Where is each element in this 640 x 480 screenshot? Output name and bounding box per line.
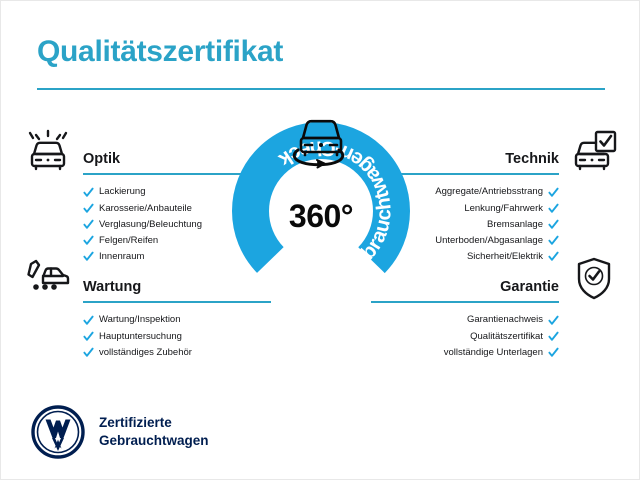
list-item: Qualitätszertifikat xyxy=(371,328,559,344)
section-title: Garantie xyxy=(500,279,559,295)
check-icon xyxy=(548,331,559,342)
list-item-label: Unterboden/Abgasanlage xyxy=(435,236,543,246)
section-title: Technik xyxy=(505,151,559,167)
check-icon xyxy=(548,219,559,230)
car-shine-icon xyxy=(23,129,73,173)
list-item-label: vollständiges Zubehör xyxy=(99,348,192,358)
checklist-garantie: Garantienachweis Qualitätszertifikat vol… xyxy=(371,305,621,361)
360-check-badge: Gebrauchtwagen-Check 360° xyxy=(224,114,418,308)
check-icon xyxy=(83,315,94,326)
shield-check-icon xyxy=(569,257,619,301)
vw-logo-line1: Zertifizierte xyxy=(99,414,209,432)
list-item: vollständiges Zubehör xyxy=(83,344,271,360)
list-item-label: Wartung/Inspektion xyxy=(99,315,181,325)
check-icon xyxy=(548,187,559,198)
title-divider xyxy=(37,88,605,90)
list-item-label: Aggregate/Antriebsstrang xyxy=(435,187,543,197)
list-item-label: Karosserie/Anbauteile xyxy=(99,204,192,214)
list-item-label: Hauptuntersuchung xyxy=(99,332,182,342)
quality-certificate-page: Qualitätszertifikat Optik xyxy=(0,0,640,480)
check-icon xyxy=(548,315,559,326)
list-item-label: vollständige Unterlagen xyxy=(444,348,543,358)
check-icon xyxy=(548,347,559,358)
check-icon xyxy=(548,235,559,246)
badge-degrees-label: 360° xyxy=(224,114,418,308)
list-item: Garantienachweis xyxy=(371,312,559,328)
list-item: Wartung/Inspektion xyxy=(83,312,271,328)
vw-logo-line2: Gebrauchtwagen xyxy=(99,432,209,450)
section-title: Wartung xyxy=(83,279,141,295)
check-icon xyxy=(83,187,94,198)
list-item-label: Lenkung/Fahrwerk xyxy=(464,204,543,214)
list-item: vollständige Unterlagen xyxy=(371,344,559,360)
check-icon xyxy=(83,203,94,214)
section-title: Optik xyxy=(83,151,120,167)
list-item-label: Bremsanlage xyxy=(487,220,543,230)
list-item: Hauptuntersuchung xyxy=(83,328,271,344)
check-icon xyxy=(548,203,559,214)
vw-logo-text: Zertifizierte Gebrauchtwagen xyxy=(99,414,209,450)
check-icon xyxy=(83,235,94,246)
list-item-label: Garantienachweis xyxy=(467,315,543,325)
vw-certified-logo: Zertifizierte Gebrauchtwagen xyxy=(31,405,209,459)
checklist-wartung: Wartung/Inspektion Hauptuntersuchung vol… xyxy=(21,305,271,361)
check-icon xyxy=(83,331,94,342)
list-item-label: Verglasung/Beleuchtung xyxy=(99,220,202,230)
wrench-car-icon xyxy=(23,257,73,301)
list-item-label: Felgen/Reifen xyxy=(99,236,158,246)
list-item-label: Qualitätszertifikat xyxy=(470,332,543,342)
list-item-label: Lackierung xyxy=(99,187,145,197)
check-icon xyxy=(83,347,94,358)
check-icon xyxy=(83,219,94,230)
page-title: Qualitätszertifikat xyxy=(37,35,283,69)
vw-roundel-icon xyxy=(31,405,85,459)
car-checkbox-icon xyxy=(569,129,619,173)
